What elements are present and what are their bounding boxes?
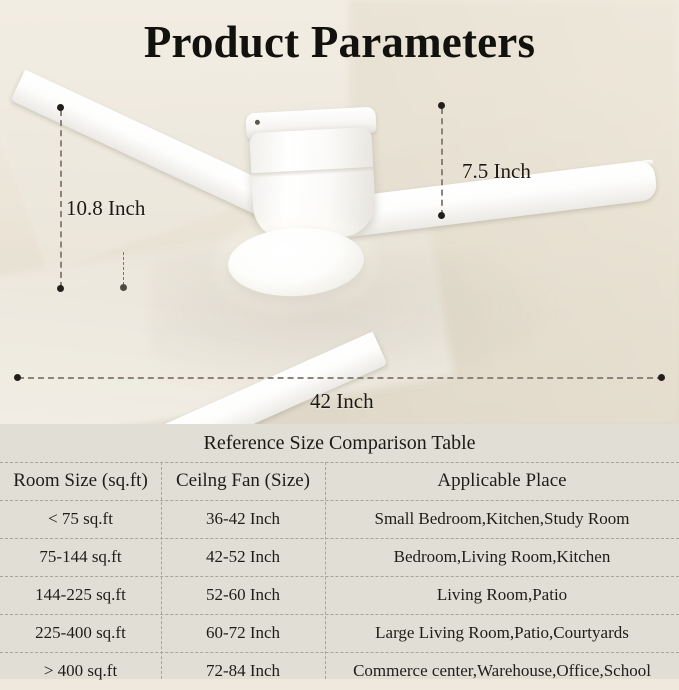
table-cell-fan-size: 42-52 Inch: [161, 538, 325, 576]
pull-chain: [123, 252, 124, 284]
depth-dimension-dot-bottom: [438, 212, 445, 219]
table-cell-fan-size: 60-72 Inch: [161, 614, 325, 652]
table-cell-applicable-place: Living Room,Patio: [325, 576, 679, 614]
table-row: > 400 sq.ft 72-84 Inch Commerce center,W…: [0, 652, 679, 690]
height-dimension-label: 10.8 Inch: [66, 196, 145, 221]
depth-dimension-dot-top: [438, 102, 445, 109]
table-header-row: Room Size (sq.ft) Ceilng Fan (Size) Appl…: [0, 462, 679, 500]
canopy-screw: [255, 120, 260, 125]
height-dimension-dot-top: [57, 104, 64, 111]
page-title: Product Parameters: [0, 16, 679, 68]
product-parameters-page: 10.8 Inch 7.5 Inch 42 Inch Product Param…: [0, 0, 679, 679]
table-cell-applicable-place: Small Bedroom,Kitchen,Study Room: [325, 500, 679, 538]
span-dimension-label: 42 Inch: [310, 389, 374, 414]
table-cell-applicable-place: Bedroom,Living Room,Kitchen: [325, 538, 679, 576]
led-light-cover: [226, 224, 365, 299]
table-row: < 75 sq.ft 36-42 Inch Small Bedroom,Kitc…: [0, 500, 679, 538]
span-dimension-line: [18, 377, 663, 379]
fan-motor-housing: [249, 127, 376, 241]
table-cell-room-size: 75-144 sq.ft: [0, 538, 161, 576]
motor-seam: [251, 167, 373, 178]
table-header-cell: Applicable Place: [325, 462, 679, 500]
span-dimension-dot-left: [14, 374, 21, 381]
table-cell-room-size: 144-225 sq.ft: [0, 576, 161, 614]
table-cell-fan-size: 72-84 Inch: [161, 652, 325, 690]
table-row: 225-400 sq.ft 60-72 Inch Large Living Ro…: [0, 614, 679, 652]
span-dimension-dot-right: [658, 374, 665, 381]
height-dimension-line: [60, 110, 62, 288]
table-cell-room-size: 225-400 sq.ft: [0, 614, 161, 652]
table-cell-room-size: < 75 sq.ft: [0, 500, 161, 538]
height-dimension-dot-bottom: [57, 285, 64, 292]
table-row: 75-144 sq.ft 42-52 Inch Bedroom,Living R…: [0, 538, 679, 576]
table-cell-fan-size: 36-42 Inch: [161, 500, 325, 538]
table-header-cell: Room Size (sq.ft): [0, 462, 161, 500]
depth-dimension-line: [441, 108, 443, 216]
table-row: 144-225 sq.ft 52-60 Inch Living Room,Pat…: [0, 576, 679, 614]
table-title: Reference Size Comparison Table: [0, 432, 679, 455]
depth-dimension-label: 7.5 Inch: [462, 159, 531, 184]
table-header-cell: Ceilng Fan (Size): [161, 462, 325, 500]
table-cell-fan-size: 52-60 Inch: [161, 576, 325, 614]
size-comparison-table: Reference Size Comparison Table Room Siz…: [0, 424, 679, 679]
table-cell-applicable-place: Commerce center,Warehouse,Office,School: [325, 652, 679, 690]
table-cell-room-size: > 400 sq.ft: [0, 652, 161, 690]
pull-chain-knob: [120, 284, 127, 291]
table-cell-applicable-place: Large Living Room,Patio,Courtyards: [325, 614, 679, 652]
